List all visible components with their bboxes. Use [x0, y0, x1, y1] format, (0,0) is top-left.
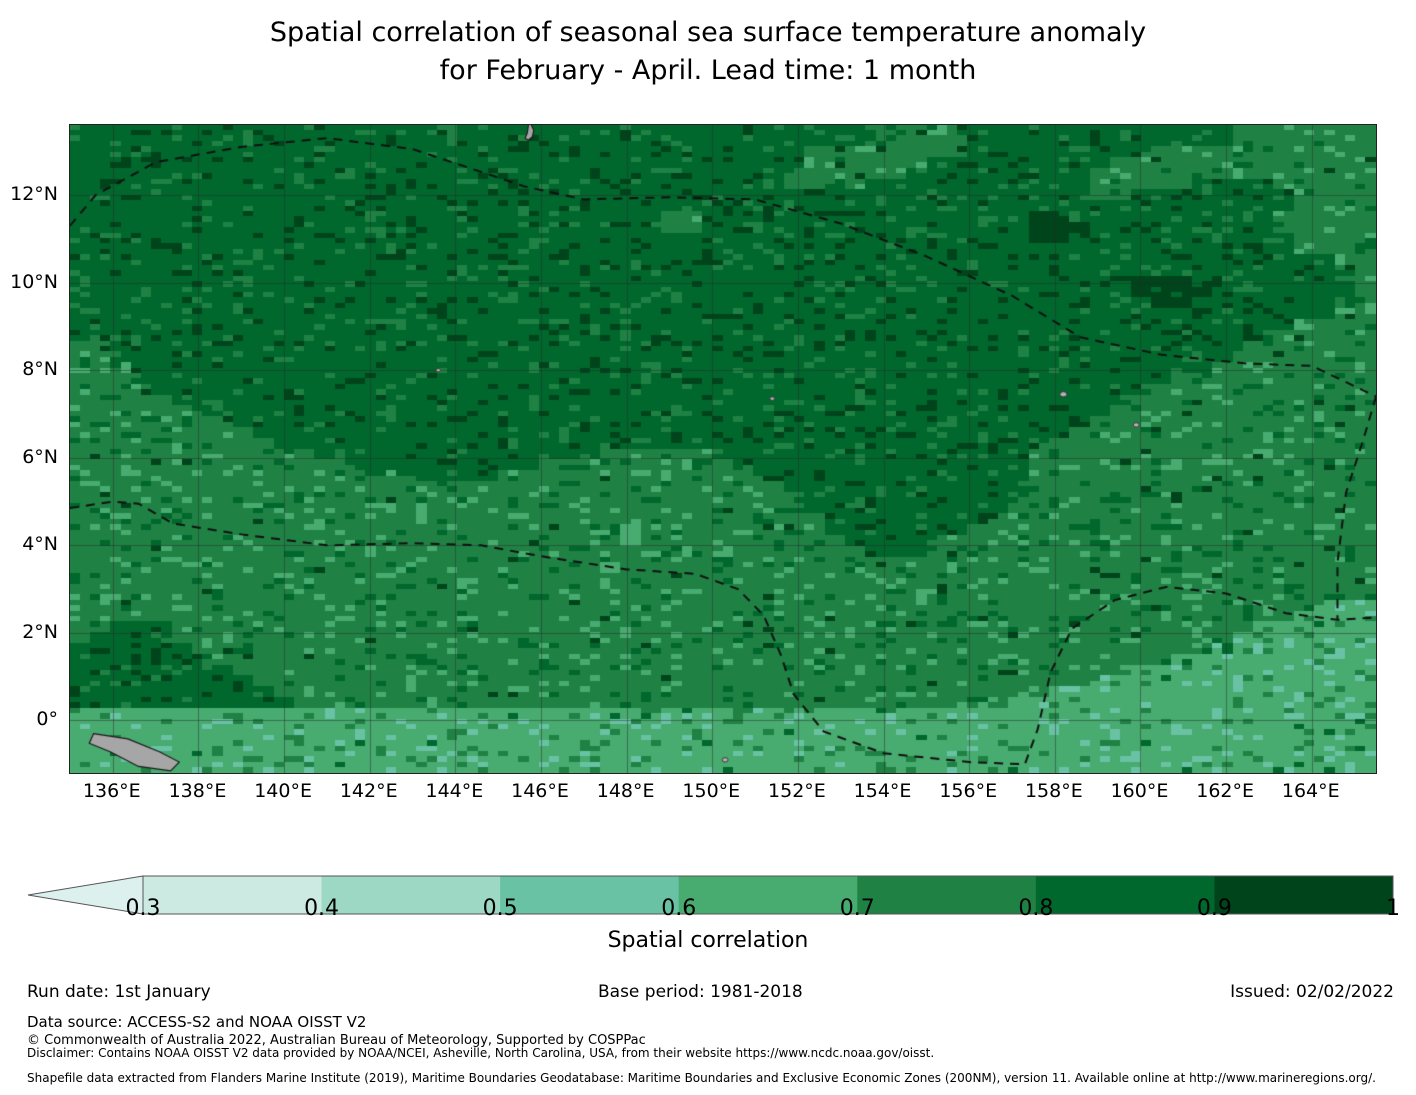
colorbar-segment — [679, 876, 858, 914]
map-plot-area — [69, 124, 1377, 774]
x-axis-tick-label: 146°E — [511, 780, 569, 802]
x-axis-tick-label: 138°E — [169, 780, 227, 802]
shapefile-attribution-text: Shapefile data extracted from Flanders M… — [27, 1071, 1376, 1085]
title-line-2: for February - April. Lead time: 1 month — [0, 52, 1416, 90]
colorbar-segment — [322, 876, 501, 914]
y-axis-tick-label: 12°N — [10, 183, 58, 205]
colorbar-segment — [1214, 876, 1393, 914]
colorbar-tick-label: 1 — [1386, 896, 1400, 921]
x-axis-tick-label: 158°E — [1025, 780, 1083, 802]
y-axis-tick-label: 8°N — [22, 358, 58, 380]
x-axis-tick-label: 154°E — [854, 780, 912, 802]
y-axis-tick-label: 0° — [36, 708, 58, 730]
title-line-1: Spatial correlation of seasonal sea surf… — [0, 14, 1416, 52]
colorbar-tick-label: 0.4 — [304, 896, 339, 921]
x-axis-tick-label: 160°E — [1111, 780, 1169, 802]
colorbar-segment — [857, 876, 1036, 914]
x-axis-tick-label: 136°E — [83, 780, 141, 802]
y-axis-tick-label: 2°N — [22, 621, 58, 643]
colorbar-tick-label: 0.7 — [840, 896, 875, 921]
colorbar-tick-label: 0.8 — [1018, 896, 1053, 921]
base-period-text: Base period: 1981-2018 — [598, 982, 803, 1002]
footer-row: Run date: 1st January Base period: 1981-… — [0, 982, 1416, 1006]
x-axis-tick-label: 164°E — [1282, 780, 1340, 802]
correlation-heatmap — [70, 125, 1376, 773]
x-axis-tick-label: 162°E — [1196, 780, 1254, 802]
data-source-text: Data source: ACCESS-S2 and NOAA OISST V2 — [27, 1013, 366, 1031]
x-axis-tick-label: 142°E — [340, 780, 398, 802]
colorbar — [0, 866, 1416, 986]
colorbar-segment — [1036, 876, 1215, 914]
y-axis-tick-label: 4°N — [22, 533, 58, 555]
colorbar-segment — [143, 876, 322, 914]
run-date-text: Run date: 1st January — [27, 982, 211, 1002]
x-axis-tick-label: 144°E — [425, 780, 483, 802]
colorbar-tick-label: 0.9 — [1197, 896, 1232, 921]
x-axis-tick-label: 140°E — [254, 780, 312, 802]
disclaimer-text: Disclaimer: Contains NOAA OISST V2 data … — [27, 1046, 934, 1060]
x-axis-tick-label: 156°E — [939, 780, 997, 802]
colorbar-tick-label: 0.5 — [483, 896, 518, 921]
x-axis-tick-label: 150°E — [682, 780, 740, 802]
x-axis-tick-label: 148°E — [597, 780, 655, 802]
colorbar-label: Spatial correlation — [0, 928, 1416, 953]
y-axis-tick-label: 10°N — [10, 271, 58, 293]
colorbar-tick-label: 0.3 — [126, 896, 161, 921]
y-axis-tick-label: 6°N — [22, 446, 58, 468]
colorbar-tick-label: 0.6 — [661, 896, 696, 921]
colorbar-segment — [500, 876, 679, 914]
issued-date-text: Issued: 02/02/2022 — [1230, 982, 1394, 1002]
x-axis-tick-label: 152°E — [768, 780, 826, 802]
page-title: Spatial correlation of seasonal sea surf… — [0, 14, 1416, 90]
